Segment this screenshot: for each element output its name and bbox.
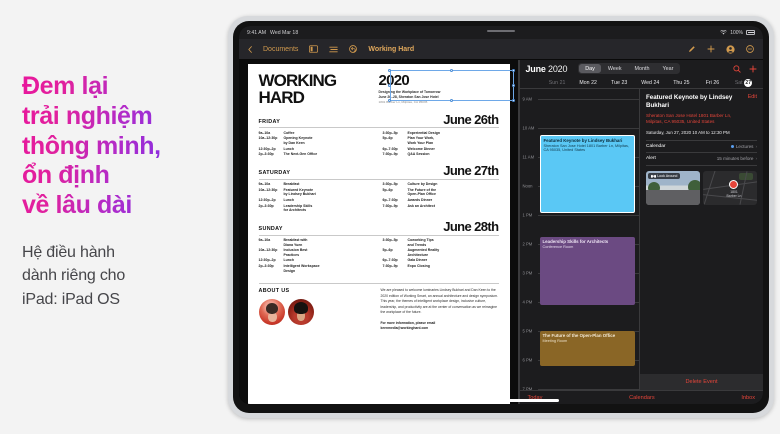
schedule-entry-time: 10a–12:30p <box>259 188 284 197</box>
schedule-entry-time: 6p–7:30p <box>383 147 408 152</box>
day-strip-label: Thu <box>673 80 682 86</box>
day-strip-label: Mon <box>579 80 589 86</box>
schedule-entry: 7:30p–9pQ&A Session <box>383 152 499 157</box>
about-section: ABOUT US We are pleased to welcome lumin… <box>259 283 499 330</box>
undo-icon[interactable] <box>349 45 357 53</box>
edit-event-button[interactable]: Edit <box>748 94 757 100</box>
schedule-entry: 3:30p–5pCulture by Design <box>383 182 499 187</box>
schedule-entry-title: Lunch <box>284 147 295 152</box>
schedule-entry-title: Awards Dinner <box>408 198 433 203</box>
masthead-subtitle: Designing the Workplace of Tomorrow June… <box>379 90 499 100</box>
event-detail-row-label: Alert <box>646 156 656 161</box>
schedule-entry-time: 5p–6p <box>383 188 408 197</box>
day-strip-item-24[interactable]: Wed24 <box>635 80 666 86</box>
hour-label: 11 AM <box>523 155 535 160</box>
map-pin-icon <box>729 180 738 189</box>
back-to-documents-button[interactable]: Documents <box>263 46 298 53</box>
schedule-day-header: SUNDAYJune 28th <box>259 220 499 236</box>
schedule-entry-time: 12:30p–2p <box>259 147 284 152</box>
schedule-entry-time: 6p–7:30p <box>383 198 408 203</box>
schedule-entry: 5p–6pPlan Your Work, Work Your Plan <box>383 136 499 145</box>
event-detail-location[interactable]: Sheraton San Jose Hotel 1801 Barber Ln, … <box>646 113 757 126</box>
document-pane[interactable]: WORKING HARD 2020 Designing the Workplac… <box>239 60 518 404</box>
schedule-day-name: SUNDAY <box>259 226 283 233</box>
delete-event-button[interactable]: Delete Event <box>640 374 763 390</box>
schedule-day-header: FRIDAYJune 26th <box>259 113 499 129</box>
schedule-entry-time: 9a–10a <box>259 182 284 187</box>
back-chevron-icon[interactable] <box>248 46 252 53</box>
mini-map[interactable]: 1801 Barber Ln <box>703 171 757 205</box>
calendar-view-month[interactable]: Month <box>629 64 656 73</box>
schedule-day: SATURDAYJune 27th9a–10aBreakfast10a–12:3… <box>259 164 499 213</box>
schedule-entry: 10a–12:30pInclusion Best Practices <box>259 248 375 257</box>
day-strip-item-21[interactable]: Sun21 <box>542 80 573 86</box>
schedule-entry-title: Leadership Skills for Architects <box>284 204 313 213</box>
schedule-entry: 9a–10aBreakfast <box>259 182 375 187</box>
schedule-entry-time: 3:30p–5p <box>383 131 408 136</box>
look-around-badge: Look Around <box>648 173 680 179</box>
day-strip-number: 24 <box>653 80 659 86</box>
schedule-entry-time: 10a–12:30p <box>259 248 284 257</box>
plus-icon[interactable] <box>749 65 757 73</box>
schedule-entry: 9a–10aBreakfast with Diana Yuen <box>259 238 375 247</box>
schedule-entry-time: 2p–3:30p <box>259 264 284 273</box>
home-indicator[interactable] <box>443 399 559 402</box>
schedule-entry: 2p–3:30pIntelligent Workspace Design <box>259 264 375 273</box>
schedule-entry-title: Culture by Design <box>408 182 438 187</box>
schedule-entry: 5p–6pAugmented Reality Architecture <box>383 248 499 257</box>
schedule-entry-title: Opening Keynote by Dan Keen <box>284 136 313 145</box>
schedule-column: 3:30p–5pCulture by Design5p–6pThe Future… <box>383 182 499 213</box>
hour-label: 10 AM <box>523 126 535 131</box>
schedule-entry-time: 12:30p–2p <box>259 258 284 263</box>
schedule-entry: 7:30p–9pAsk an Architect <box>383 204 499 209</box>
schedule-entry: 5p–6pThe Future of the Open-Plan Office <box>383 188 499 197</box>
calendar-month-title: June 2020 <box>526 64 568 74</box>
avatar <box>259 299 285 325</box>
schedule-entry-title: Coworking Tips and Trends <box>408 238 434 247</box>
day-strip-number: 22 <box>591 80 597 86</box>
inbox-button[interactable]: Inbox <box>741 395 755 401</box>
day-strip-item-26[interactable]: Fri26 <box>697 80 728 86</box>
hour-label: 2 PM <box>523 242 533 247</box>
hour-gridline <box>538 215 640 216</box>
schedule-entry-title: Expo Closing <box>408 264 430 269</box>
schedule-entry-title: Coffee <box>284 131 295 136</box>
schedule-entry-title: The Next-Gen Office <box>284 152 318 157</box>
schedule-entry: 12:30p–2pLunch <box>259 198 375 203</box>
day-strip-item-22[interactable]: Mon22 <box>573 80 604 86</box>
about-contact: For more information, please email keenm… <box>381 321 499 331</box>
day-strip-number: 23 <box>621 80 627 86</box>
schedule-column: 3:30p–5pExperiential Design5p–6pPlan You… <box>383 131 499 158</box>
schedule-entry: 3:30p–5pExperiential Design <box>383 131 499 136</box>
schedule-day: SUNDAYJune 28th9a–10aBreakfast with Dian… <box>259 220 499 274</box>
calendar-event-subtitle: Sheraton San Jose Hotel 1801 Barber Ln, … <box>544 144 632 154</box>
calendar-event[interactable]: Leadership Skills for ArchitectsConferen… <box>540 237 636 305</box>
calendar-header: June 2020 DayWeekMonthYear <box>520 60 764 77</box>
hour-label: Noon <box>523 184 533 189</box>
schedule-entry: 6p–7:30pAwards Dinner <box>383 198 499 203</box>
selection-handle[interactable] <box>450 69 453 72</box>
event-detail-row-calendar[interactable]: CalendarLectures› <box>646 140 757 152</box>
schedule-entry-time: 9a–10a <box>259 238 284 247</box>
schedule-entry-time: 7:30p–9p <box>383 204 408 209</box>
day-strip-label: Tue <box>611 80 620 86</box>
event-detail-panel: Featured Keynote by Lindsey Bukhari Edit… <box>639 89 763 390</box>
calendars-button[interactable]: Calendars <box>629 395 655 401</box>
calendar-footer: Today Calendars Inbox <box>520 390 764 404</box>
document-title-block[interactable]: WORKING HARD <box>259 73 337 106</box>
schedule-entry-time: 3:30p–5p <box>383 238 408 247</box>
about-body: We are pleased to welcome luminaries Lin… <box>381 288 499 316</box>
schedule-column: 3:30p–5pCoworking Tips and Trends5p–6pAu… <box>383 238 499 274</box>
schedule-day-name: SATURDAY <box>259 170 291 177</box>
schedule-entry-time: 5p–6p <box>383 136 408 145</box>
pen-icon[interactable] <box>688 45 696 53</box>
schedule-entry: 12:30p–2pLunch <box>259 258 375 263</box>
hour-label: 7 PM <box>523 387 533 391</box>
schedule-entry-title: Ask an Architect <box>408 204 436 209</box>
schedule-entry-time: 10a–12:30p <box>259 136 284 145</box>
schedule-day-date: June 28th <box>443 220 498 233</box>
day-strip-label: Wed <box>641 80 652 86</box>
schedule-entry-title: Breakfast <box>284 182 300 187</box>
day-strip-number: 27 <box>744 79 752 87</box>
day-strip-item-27[interactable]: Sat27 <box>728 79 759 87</box>
schedule-entry: 6p–7:30pWelcome Dinner <box>383 147 499 152</box>
avatar <box>288 299 314 325</box>
calendar-pane: June 2020 DayWeekMonthYear <box>520 60 764 404</box>
day-strip-number: 21 <box>560 80 566 86</box>
schedule-column: 9a–10aBreakfast10a–12:30pFeatured Keynot… <box>259 182 375 213</box>
selection-handle[interactable] <box>512 69 515 72</box>
schedule-entry-title: Gala Dinner <box>408 258 428 263</box>
schedule-entry: 10a–12:30pOpening Keynote by Dan Keen <box>259 136 375 145</box>
day-strip-item-23[interactable]: Tue23 <box>604 80 635 86</box>
status-bar: 9:41 AM Wed Mar 18 100% <box>239 26 763 39</box>
camera-notch <box>487 30 515 32</box>
split-view: WORKING HARD 2020 Designing the Workplac… <box>239 60 763 404</box>
chevron-right-icon: › <box>755 144 757 149</box>
schedule-entry-time: 2p–3:30p <box>259 204 284 213</box>
document-masthead: WORKING HARD 2020 Designing the Workplac… <box>259 73 499 106</box>
promo-banner: Đem lại trải nghiệm thông minh, ổn định … <box>0 0 780 434</box>
schedule-entry-title: Experiential Design <box>408 131 440 136</box>
calendar-event[interactable]: Featured Keynote by Lindsey BukhariShera… <box>540 135 636 213</box>
schedule-entry-title: Intelligent Workspace Design <box>284 264 320 273</box>
calendar-event-subtitle: Meeting Room <box>543 339 633 344</box>
schedule-entry-title: Augmented Reality Architecture <box>408 248 440 257</box>
schedule-entry: 7:30p–9pExpo Closing <box>383 264 499 269</box>
list-icon[interactable] <box>329 46 338 53</box>
calendar-view-day[interactable]: Day <box>579 64 601 73</box>
calendar-view-year[interactable]: Year <box>657 64 680 73</box>
status-date: Wed Mar 18 <box>270 30 298 36</box>
schedule-entry-title: Lunch <box>284 258 295 263</box>
map-pin-label: 1801 Barber Ln <box>721 190 747 199</box>
schedule-entry-time: 6p–7:30p <box>383 258 408 263</box>
selection-handle[interactable] <box>512 99 515 102</box>
search-icon[interactable] <box>733 65 741 73</box>
masthead-address: 1801 Barber Ln, Milpitas, CA 95035 <box>379 100 499 105</box>
schedule-entry-title: Q&A Session <box>408 152 430 157</box>
battery-icon <box>746 30 755 35</box>
day-strip-item-25[interactable]: Thu25 <box>666 80 697 86</box>
promo-subcopy: Hệ điều hành dành riêng cho iPad: iPad O… <box>22 241 252 312</box>
schedule-day-header: SATURDAYJune 27th <box>259 164 499 180</box>
masthead-line-2: HARD <box>259 90 337 107</box>
promo-copy: Đem lại trải nghiệm thông minh, ổn định … <box>22 72 252 312</box>
schedule-entry-time: 7:30p–9p <box>383 264 408 269</box>
look-around-label: Look Around <box>657 174 677 178</box>
calendar-color-dot <box>731 145 734 148</box>
hour-label: 4 PM <box>523 300 533 305</box>
calendar-body: 9 AM10 AM11 AMNoon1 PM2 PM3 PM4 PM5 PM6 … <box>520 89 764 390</box>
schedule-entry: 2p–3:30pLeadership Skills for Architects <box>259 204 375 213</box>
ipad-device: 9:41 AM Wed Mar 18 100% <box>228 16 774 418</box>
hour-label: 1 PM <box>523 213 533 218</box>
schedule-day-date: June 27th <box>443 164 498 177</box>
schedule-entry: 10a–12:30pFeatured Keynote by Lindsey Bu… <box>259 188 375 197</box>
schedule-day-date: June 26th <box>443 113 498 126</box>
schedule-entry-time: 3:30p–5p <box>383 182 408 187</box>
event-detail-title: Featured Keynote by Lindsey Bukhari <box>646 94 744 110</box>
event-detail-datetime: Saturday, Jun 27, 2020 10 AM to 12:30 PM <box>646 130 757 136</box>
wifi-icon <box>720 30 727 35</box>
schedule-entry-time: 7:30p–9p <box>383 152 408 157</box>
selection-handle[interactable] <box>512 84 515 87</box>
day-strip-number: 26 <box>713 80 719 86</box>
sidebar-icon[interactable] <box>309 45 318 53</box>
day-strip-number: 25 <box>684 80 690 86</box>
documents-toolbar: Documents Working Hard <box>239 39 763 60</box>
look-around-preview[interactable]: Look Around <box>646 171 700 205</box>
status-time: 9:41 AM <box>247 30 266 36</box>
schedule-day-name: FRIDAY <box>259 119 281 126</box>
schedule-entry-time: 2p–3:30p <box>259 152 284 157</box>
hour-label: 3 PM <box>523 271 533 276</box>
calendar-view-week[interactable]: Week <box>602 64 628 73</box>
schedule-column: 9a–10aBreakfast with Diana Yuen10a–12:30… <box>259 238 375 274</box>
binoculars-icon <box>651 174 656 178</box>
schedule-entry-title: Featured Keynote by Lindsey Bukhari <box>284 188 316 197</box>
schedule-entry-time: 5p–6p <box>383 248 408 257</box>
hour-gridline <box>538 128 640 129</box>
schedule-entry-title: Plan Your Work, Work Your Plan <box>408 136 435 145</box>
schedule-entry-title: Inclusion Best Practices <box>284 248 308 257</box>
ipad-bezel: 9:41 AM Wed Mar 18 100% <box>233 21 769 413</box>
calendar-view-segmented-control[interactable]: DayWeekMonthYear <box>578 63 680 74</box>
calendar-timeline[interactable]: 9 AM10 AM11 AMNoon1 PM2 PM3 PM4 PM5 PM6 … <box>520 89 640 390</box>
calendar-event-subtitle: Conference Room <box>543 245 633 250</box>
schedule-entry-title: Lunch <box>284 198 295 203</box>
hour-label: 6 PM <box>523 358 533 363</box>
schedule-entry-title: Breakfast with Diana Yuen <box>284 238 308 247</box>
schedule-entry-title: Welcome Dinner <box>408 147 435 152</box>
schedule-entry: 3:30p–5pCoworking Tips and Trends <box>383 238 499 247</box>
collaborate-icon[interactable] <box>726 45 735 54</box>
about-avatars <box>259 299 371 325</box>
schedule-column: 9a–10aCoffee10a–12:30pOpening Keynote by… <box>259 131 375 158</box>
more-icon[interactable] <box>746 45 754 53</box>
schedule-entry-title: The Future of the Open-Plan Office <box>408 188 437 197</box>
schedule-day: FRIDAYJune 26th9a–10aCoffee10a–12:30pOpe… <box>259 113 499 158</box>
event-detail-row-alert[interactable]: Alert15 minutes before› <box>646 152 757 165</box>
day-strip-label: Sat <box>735 80 743 86</box>
calendar-year: 2020 <box>548 64 567 74</box>
calendar-day-strip[interactable]: Sun21Mon22Tue23Wed24Thu25Fri26Sat27 <box>520 77 764 89</box>
chevron-right-icon: › <box>755 156 757 161</box>
ipad-screen: 9:41 AM Wed Mar 18 100% <box>239 26 763 404</box>
event-detail-row-label: Calendar <box>646 144 665 149</box>
hour-gridline <box>538 99 640 100</box>
day-strip-label: Fri <box>706 80 712 86</box>
schedule-entry-time: 9a–10a <box>259 131 284 136</box>
hour-gridline <box>538 389 640 390</box>
hour-label: 5 PM <box>523 329 533 334</box>
event-detail-rows: CalendarLectures›Alert15 minutes before› <box>646 140 757 166</box>
schedule-entry: 6p–7:30pGala Dinner <box>383 258 499 263</box>
schedule-days: FRIDAYJune 26th9a–10aCoffee10a–12:30pOpe… <box>259 113 499 274</box>
schedule-entry: 9a–10aCoffee <box>259 131 375 136</box>
event-detail-row-value: 15 minutes before› <box>717 156 757 161</box>
document-title[interactable]: Working Hard <box>368 46 414 53</box>
hour-label: 9 AM <box>523 97 533 102</box>
battery-percent: 100% <box>730 30 743 36</box>
event-detail-row-value: Lectures› <box>731 144 757 149</box>
schedule-entry-time: 12:30p–2p <box>259 198 284 203</box>
schedule-entry: 12:30p–2pLunch <box>259 147 375 152</box>
promo-headline: Đem lại trải nghiệm thông minh, ổn định … <box>22 72 252 221</box>
calendar-event[interactable]: The Future of the Open-Plan OfficeMeetin… <box>540 331 636 366</box>
schedule-entry: 2p–3:30pThe Next-Gen Office <box>259 152 375 157</box>
masthead-info-block[interactable]: 2020 Designing the Workplace of Tomorrow… <box>377 73 499 104</box>
calendar-month: June <box>526 64 546 74</box>
day-strip-label: Sun <box>549 80 558 86</box>
masthead-year: 2020 <box>379 73 499 88</box>
plus-icon[interactable] <box>707 45 715 53</box>
event-detail-maps: Look Around <box>646 171 757 205</box>
about-title: ABOUT US <box>259 288 371 295</box>
document-sheet[interactable]: WORKING HARD 2020 Designing the Workplac… <box>248 64 510 404</box>
